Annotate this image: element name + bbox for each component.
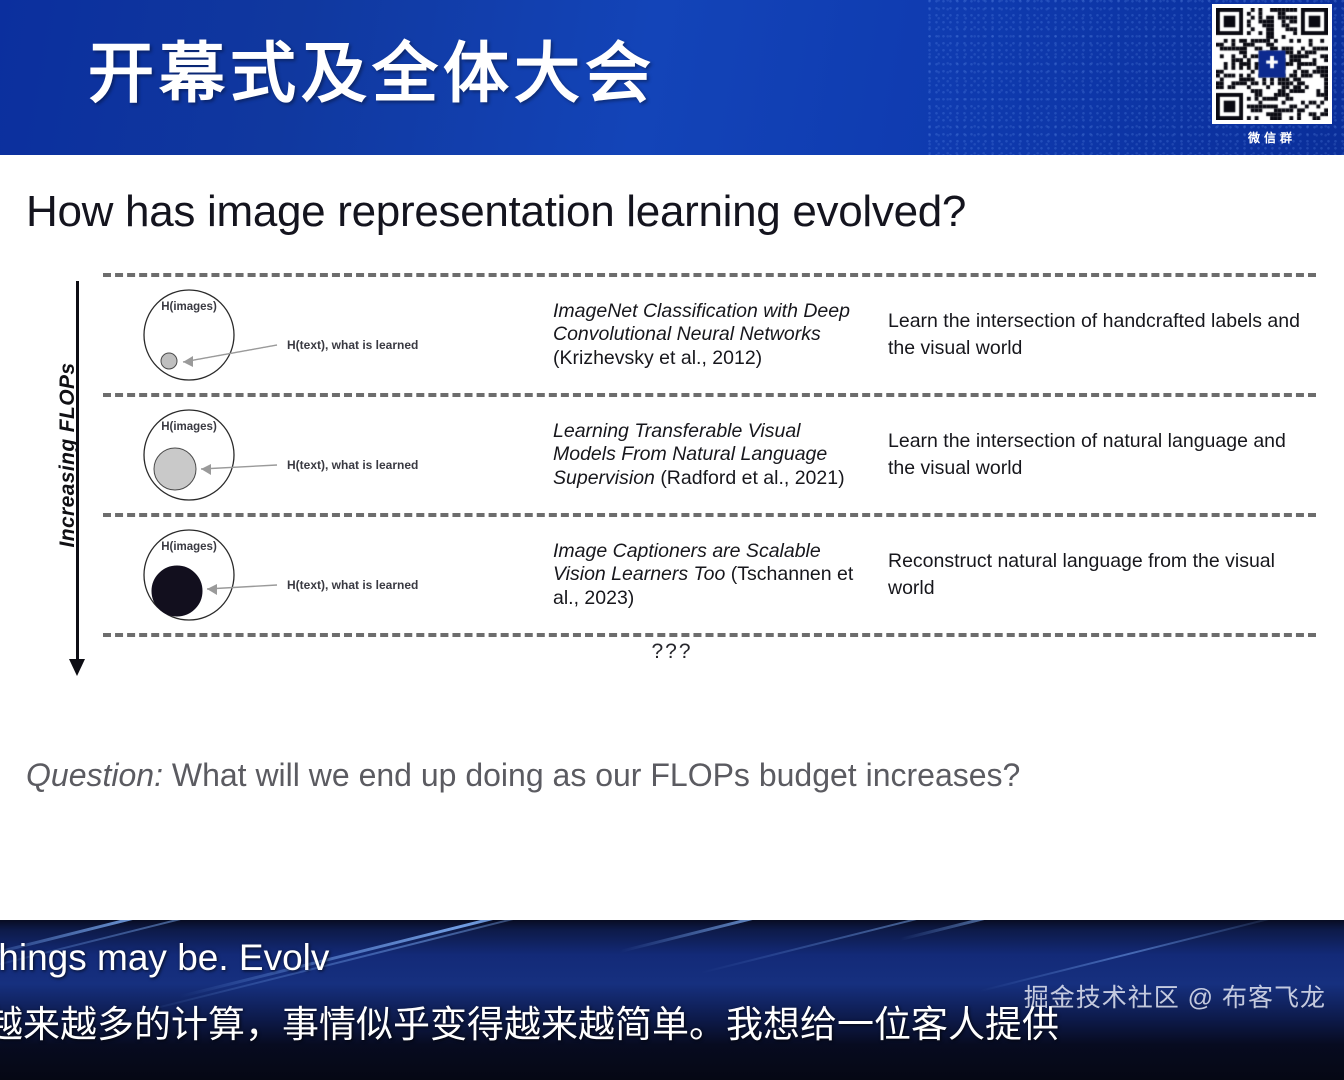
venn-inner-label-1: H(text), what is learned xyxy=(287,338,418,352)
row-diagram-cell: H(images) H(text), what is learned xyxy=(103,405,553,505)
row-citation-cell: Learning Transferable Visual Models From… xyxy=(553,420,858,491)
citation-ref: (Radford et al., 2021) xyxy=(660,467,844,489)
venn-diagram: H(images) H(text), what is learned xyxy=(131,525,551,625)
venn-outer-label-3: H(images) xyxy=(161,541,217,553)
wechat-qr-block[interactable]: 微信群 xyxy=(1208,4,1336,146)
subtitle-english: things may be. Evolv xyxy=(0,936,329,980)
venn-inner-label-3: H(text), what is learned xyxy=(287,578,418,592)
watermark: 掘金技术社区 @ 布客飞龙 xyxy=(1024,978,1326,1014)
subtitle-chinese: 越来越多的计算，事情似乎变得越来越简单。我想给一位客人提供 xyxy=(0,1002,1059,1048)
question-line: Question: What will we end up doing as o… xyxy=(26,755,1020,795)
slide-title: How has image representation learning ev… xyxy=(26,185,966,239)
table-row: H(images) H(text), what is learned Image… xyxy=(103,277,1316,393)
row-description: Reconstruct natural language from the vi… xyxy=(858,548,1316,602)
unknown-future-marker: ??? xyxy=(0,640,1344,664)
row-citation-cell: ImageNet Classification with Deep Convol… xyxy=(553,300,858,371)
citation-ref: (Krizhevsky et al., 2012) xyxy=(553,347,762,369)
row-citation-cell: Image Captioners are Scalable Vision Lea… xyxy=(553,540,858,611)
question-prefix: Question: xyxy=(26,757,163,793)
qr-code-icon[interactable] xyxy=(1212,4,1332,124)
increasing-flops-axis: Increasing FLOPs xyxy=(36,275,98,695)
venn-outer-label-1: H(images) xyxy=(161,301,217,313)
row-diagram-cell: H(images) H(text), what is learned xyxy=(103,285,553,385)
row-divider xyxy=(103,633,1316,637)
table-row: H(images) H(text), what is learned Image… xyxy=(103,517,1316,633)
venn-outer-label-2: H(images) xyxy=(161,421,217,433)
question-text: What will we end up doing as our FLOPs b… xyxy=(163,757,1020,793)
row-diagram-cell: H(images) H(text), what is learned xyxy=(103,525,553,625)
evolution-rows: H(images) H(text), what is learned Image… xyxy=(103,273,1316,637)
arrow-down-icon xyxy=(76,281,79,661)
slide-canvas: How has image representation learning ev… xyxy=(0,155,1344,920)
bottom-subtitle-band: things may be. Evolv 越来越多的计算，事情似乎变得越来越简单… xyxy=(0,920,1344,1080)
qr-label: 微信群 xyxy=(1208,129,1336,146)
venn-diagram: H(images) H(text), what is learned xyxy=(131,405,551,505)
row-description: Learn the intersection of handcrafted la… xyxy=(858,308,1316,362)
table-row: H(images) H(text), what is learned Learn… xyxy=(103,397,1316,513)
row-description: Learn the intersection of natural langua… xyxy=(858,428,1316,482)
header-band: 开幕式及全体大会 xyxy=(0,0,1344,155)
page-title: 开幕式及全体大会 xyxy=(88,34,656,112)
venn-inner-label-2: H(text), what is learned xyxy=(287,458,418,472)
venn-diagram: H(images) H(text), what is learned xyxy=(131,285,551,385)
qr-code-canvas xyxy=(1216,8,1328,120)
citation-title: ImageNet Classification with Deep Convol… xyxy=(553,300,850,346)
